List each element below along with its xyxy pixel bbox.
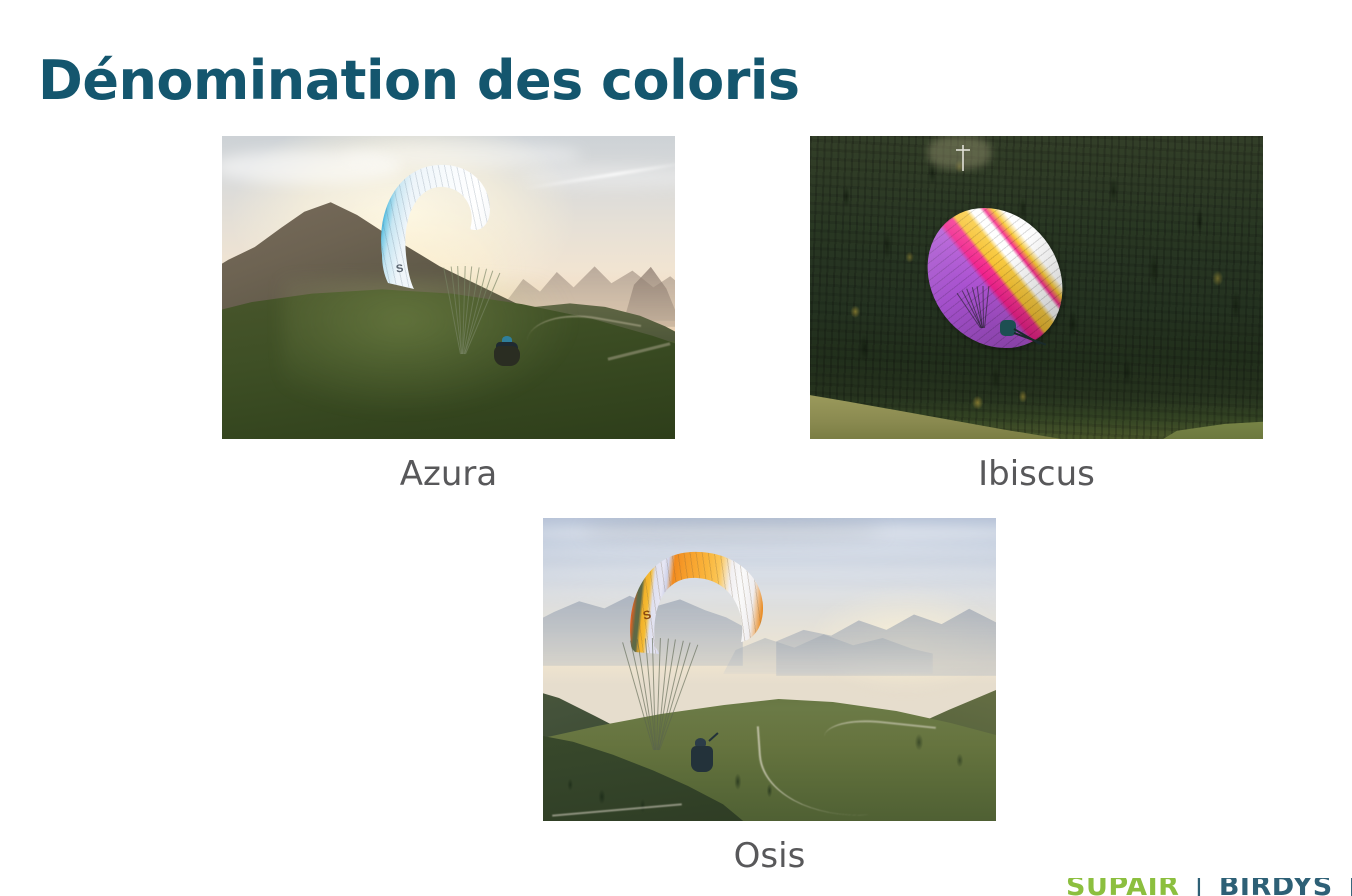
- forest-clearing: [928, 136, 991, 169]
- pylon: [962, 145, 964, 171]
- photo-ibiscus[interactable]: [810, 136, 1263, 439]
- brand-supair-text: SUPAIR: [1066, 878, 1179, 896]
- photo-azura[interactable]: S: [222, 136, 675, 439]
- figure-ibiscus: Ibiscus: [810, 136, 1263, 439]
- page-title: Dénomination des coloris: [38, 53, 800, 110]
- figure-osis: S Osis: [543, 518, 996, 821]
- brand-separator: |: [1343, 878, 1352, 896]
- paraglider-lines: [653, 638, 723, 748]
- brand-birdys-text: BIRDYS: [1219, 878, 1333, 896]
- pilot-harness: [691, 746, 713, 772]
- figure-azura: S Azura: [222, 136, 675, 439]
- paraglider-line: [658, 642, 691, 750]
- pilot-helmet: [502, 336, 512, 344]
- caption-ibiscus: Ibiscus: [810, 454, 1263, 494]
- brand-separator: |: [1189, 878, 1209, 896]
- brand-logo: SUPAIR | BIRDYS | B: [1066, 878, 1352, 896]
- photo-osis[interactable]: S: [543, 518, 996, 821]
- caption-azura: Azura: [222, 454, 675, 494]
- wing-logo: S: [395, 263, 404, 276]
- paraglider-line: [984, 286, 989, 328]
- pilot-harness: [494, 346, 520, 366]
- caption-osis: Osis: [543, 836, 996, 876]
- paraglider-wing-ibiscus: [932, 204, 1058, 352]
